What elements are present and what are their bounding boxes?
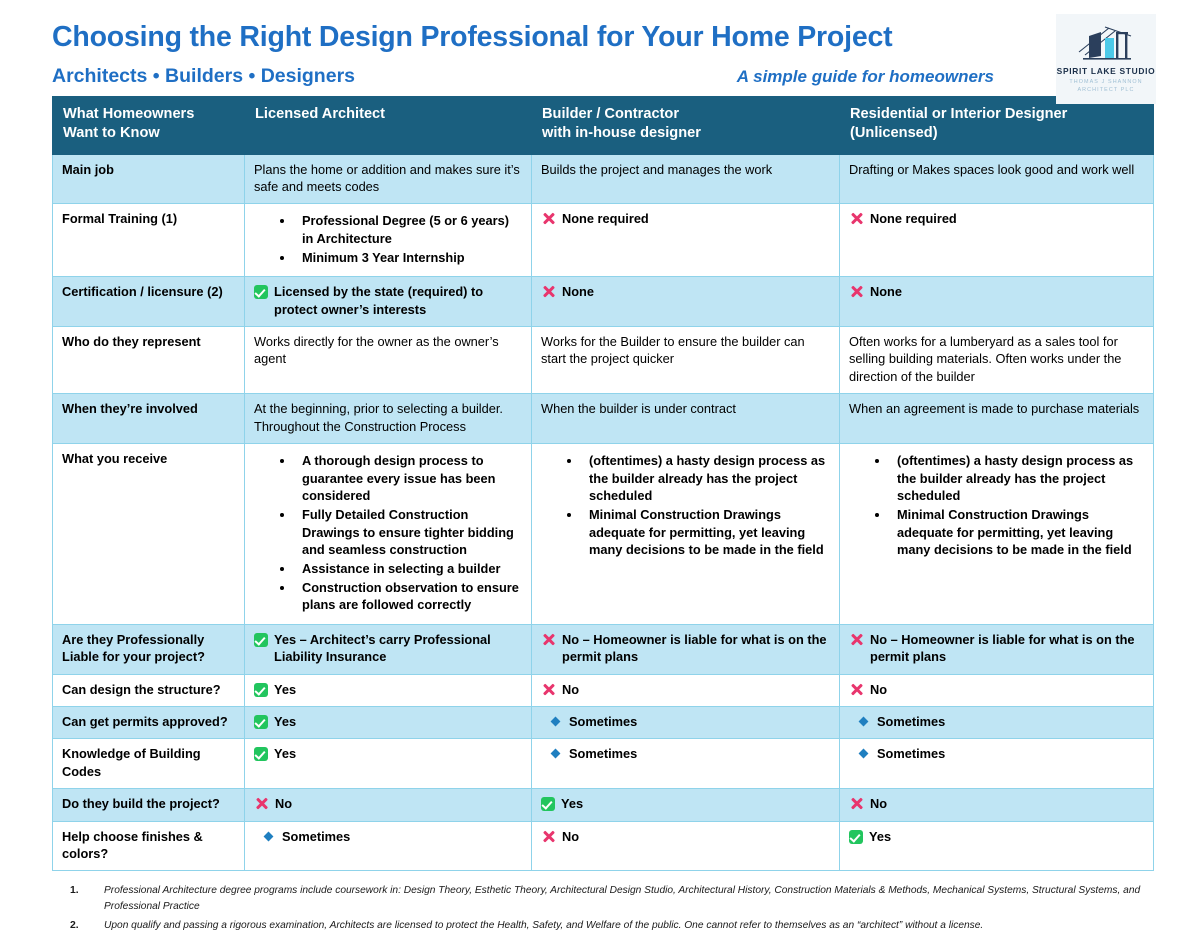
column-header-topic-line2: Want to Know — [63, 124, 236, 143]
status-cell: Sometimes — [849, 745, 1144, 762]
check-icon — [254, 285, 268, 299]
logo-company-name: SPIRIT LAKE STUDIO — [1057, 66, 1156, 76]
cell-architect: No — [245, 789, 532, 821]
table-row: Formal Training (1)Professional Degree (… — [53, 204, 1154, 277]
status-label: No — [275, 795, 292, 812]
status-cell: Yes — [254, 713, 522, 730]
cell-designer: No – Homeowner is liable for what is on … — [840, 624, 1154, 674]
x-icon — [541, 682, 556, 697]
x-icon — [541, 632, 556, 647]
column-header-architect: Licensed Architect — [245, 97, 532, 155]
cell-architect: Professional Degree (5 or 6 years) in Ar… — [245, 204, 532, 277]
diamond-icon — [857, 747, 871, 761]
diamond-icon — [262, 830, 276, 844]
cell-designer: Sometimes — [840, 739, 1154, 789]
cell-builder: Yes — [532, 789, 840, 821]
cell-builder: No — [532, 821, 840, 871]
cell-designer: None required — [840, 204, 1154, 277]
status-cell: None — [541, 283, 830, 300]
bullet-item: Professional Degree (5 or 6 years) in Ar… — [280, 212, 522, 247]
check-icon — [849, 830, 863, 844]
cell-builder: None required — [532, 204, 840, 277]
status-cell: Sometimes — [849, 713, 1144, 730]
cell-designer: None — [840, 277, 1154, 327]
status-label: None — [870, 283, 902, 300]
status-label: Sometimes — [877, 745, 945, 762]
cell-architect: Yes — [245, 739, 532, 789]
cell-architect: Licensed by the state (required) to prot… — [245, 277, 532, 327]
bullet-item: (oftentimes) a hasty design process as t… — [567, 452, 830, 505]
row-label: Are they Professionally Liable for your … — [53, 624, 245, 674]
footnote: 1.Professional Architecture degree progr… — [70, 883, 1152, 915]
status-label: No — [562, 828, 579, 845]
status-label: Sometimes — [877, 713, 945, 730]
status-label: Yes — [274, 745, 296, 762]
table-header-row: What Homeowners Want to Know Licensed Ar… — [53, 97, 1154, 155]
status-cell: None required — [849, 210, 1144, 227]
table-row: Who do they representWorks directly for … — [53, 327, 1154, 394]
cell-architect: Works directly for the owner as the owne… — [245, 327, 532, 394]
x-icon — [849, 682, 864, 697]
check-icon — [541, 797, 555, 811]
cell-builder: Builds the project and manages the work — [532, 154, 840, 204]
row-label: Certification / licensure (2) — [53, 277, 245, 327]
cell-architect: A thorough design process to guarantee e… — [245, 443, 532, 624]
table-row: Main jobPlans the home or addition and m… — [53, 154, 1154, 204]
cell-text: Builds the project and manages the work — [541, 161, 830, 178]
table-row: Can design the structure?YesNoNo — [53, 674, 1154, 706]
status-cell: Sometimes — [254, 828, 522, 845]
x-icon — [541, 211, 556, 226]
bullet-item: Fully Detailed Construction Drawings to … — [280, 506, 522, 559]
cell-builder: No — [532, 674, 840, 706]
status-label: No — [562, 681, 579, 698]
x-icon — [849, 632, 864, 647]
status-label: None required — [870, 210, 957, 227]
column-header-designer-line2: (Unlicensed) — [850, 124, 1145, 143]
column-header-builder: Builder / Contractor with in-house desig… — [532, 97, 840, 155]
table-head: What Homeowners Want to Know Licensed Ar… — [53, 97, 1154, 155]
x-icon — [541, 829, 556, 844]
check-icon — [254, 747, 268, 761]
infographic-page: Choosing the Right Design Professional f… — [0, 0, 1200, 927]
comparison-table-wrapper: What Homeowners Want to Know Licensed Ar… — [52, 96, 1153, 871]
table-row: Do they build the project?NoYesNo — [53, 789, 1154, 821]
status-label: Yes — [274, 681, 296, 698]
status-label: Licensed by the state (required) to prot… — [274, 283, 522, 318]
cell-architect: Yes — [245, 707, 532, 739]
x-icon — [849, 211, 864, 226]
cell-text: Often works for a lumberyard as a sales … — [849, 333, 1144, 385]
column-header-designer-line1: Residential or Interior Designer — [850, 105, 1145, 124]
cell-text: Drafting or Makes spaces look good and w… — [849, 161, 1144, 178]
diamond-icon — [549, 747, 563, 761]
status-cell: No — [849, 795, 1144, 812]
status-label: No — [870, 681, 887, 698]
status-cell: None — [849, 283, 1144, 300]
x-icon — [541, 284, 556, 299]
status-label: No – Homeowner is liable for what is on … — [562, 631, 830, 666]
bullet-item: Minimal Construction Drawings adequate f… — [875, 506, 1144, 559]
status-label: Sometimes — [569, 713, 637, 730]
row-label: Knowledge of Building Codes — [53, 739, 245, 789]
cell-designer: Yes — [840, 821, 1154, 871]
cell-builder: None — [532, 277, 840, 327]
cell-text: Works directly for the owner as the owne… — [254, 333, 522, 368]
cell-architect: Yes — [245, 674, 532, 706]
status-label: Yes – Architect’s carry Professional Lia… — [274, 631, 522, 666]
check-icon — [254, 633, 268, 647]
bullet-list: A thorough design process to guarantee e… — [254, 452, 522, 614]
footnote-number: 1. — [70, 883, 104, 899]
table-row: Certification / licensure (2)Licensed by… — [53, 277, 1154, 327]
status-cell: No — [254, 795, 522, 812]
table-row: What you receiveA thorough design proces… — [53, 443, 1154, 624]
cell-architect: Yes – Architect’s carry Professional Lia… — [245, 624, 532, 674]
cell-builder: (oftentimes) a hasty design process as t… — [532, 443, 840, 624]
table-row: Are they Professionally Liable for your … — [53, 624, 1154, 674]
row-label: Can design the structure? — [53, 674, 245, 706]
status-cell: Yes — [849, 828, 1144, 845]
row-label: Do they build the project? — [53, 789, 245, 821]
cell-text: When an agreement is made to purchase ma… — [849, 400, 1144, 417]
cell-builder: No – Homeowner is liable for what is on … — [532, 624, 840, 674]
cell-designer: Often works for a lumberyard as a sales … — [840, 327, 1154, 394]
cell-architect: Plans the home or addition and makes sur… — [245, 154, 532, 204]
page-subtitle: Architects • Builders • Designers — [52, 65, 355, 88]
cell-designer: (oftentimes) a hasty design process as t… — [840, 443, 1154, 624]
cell-designer: No — [840, 789, 1154, 821]
row-label: What you receive — [53, 443, 245, 624]
bullet-item: A thorough design process to guarantee e… — [280, 452, 522, 505]
cell-text: When the builder is under contract — [541, 400, 830, 417]
footnote-text: Upon qualify and passing a rigorous exam… — [104, 918, 1152, 934]
table-body: Main jobPlans the home or addition and m… — [53, 154, 1154, 871]
page-tagline: A simple guide for homeowners — [737, 67, 994, 87]
bullet-list: (oftentimes) a hasty design process as t… — [849, 452, 1144, 559]
status-label: No – Homeowner is liable for what is on … — [870, 631, 1144, 666]
status-label: None required — [562, 210, 649, 227]
cell-builder: Sometimes — [532, 707, 840, 739]
diamond-icon — [549, 715, 563, 729]
row-label: Main job — [53, 154, 245, 204]
status-label: Yes — [561, 795, 583, 812]
row-label: Can get permits approved? — [53, 707, 245, 739]
status-cell: Yes — [254, 681, 522, 698]
cell-builder: When the builder is under contract — [532, 394, 840, 444]
cell-builder: Works for the Builder to ensure the buil… — [532, 327, 840, 394]
column-header-topic-line1: What Homeowners — [63, 105, 236, 124]
bullet-item: Minimal Construction Drawings adequate f… — [567, 506, 830, 559]
logo-principal-name: THOMAS J SHANNON — [1069, 79, 1142, 85]
status-cell: No — [849, 681, 1144, 698]
cell-architect: At the beginning, prior to selecting a b… — [245, 394, 532, 444]
status-label: None — [562, 283, 594, 300]
column-header-builder-line1: Builder / Contractor — [542, 105, 831, 124]
status-label: Yes — [274, 713, 296, 730]
cell-designer: Drafting or Makes spaces look good and w… — [840, 154, 1154, 204]
footnote-number: 2. — [70, 918, 104, 934]
table-row: When they’re involvedAt the beginning, p… — [53, 394, 1154, 444]
company-logo: SPIRIT LAKE STUDIO THOMAS J SHANNON ARCH… — [1056, 14, 1156, 104]
column-header-architect-line1: Licensed Architect — [255, 105, 523, 124]
cell-designer: No — [840, 674, 1154, 706]
x-icon — [849, 284, 864, 299]
row-label: Help choose finishes & colors? — [53, 821, 245, 871]
status-cell: No – Homeowner is liable for what is on … — [541, 631, 830, 666]
status-label: Yes — [869, 828, 891, 845]
status-label: No — [870, 795, 887, 812]
page-title: Choosing the Right Design Professional f… — [52, 22, 1152, 53]
column-header-topic: What Homeowners Want to Know — [53, 97, 245, 155]
cell-architect: Sometimes — [245, 821, 532, 871]
status-label: Sometimes — [569, 745, 637, 762]
row-label: Who do they represent — [53, 327, 245, 394]
status-cell: None required — [541, 210, 830, 227]
status-cell: Sometimes — [541, 745, 830, 762]
cell-builder: Sometimes — [532, 739, 840, 789]
status-cell: No — [541, 828, 830, 845]
table-row: Can get permits approved?YesSometimesSom… — [53, 707, 1154, 739]
x-icon — [849, 796, 864, 811]
cell-text: Plans the home or addition and makes sur… — [254, 161, 522, 196]
bullet-item: (oftentimes) a hasty design process as t… — [875, 452, 1144, 505]
column-header-designer: Residential or Interior Designer (Unlice… — [840, 97, 1154, 155]
status-cell: Yes — [541, 795, 830, 812]
status-cell: Yes — [254, 745, 522, 762]
row-label: Formal Training (1) — [53, 204, 245, 277]
x-icon — [254, 796, 269, 811]
bullet-item: Assistance in selecting a builder — [280, 560, 522, 578]
check-icon — [254, 683, 268, 697]
page-header: Choosing the Right Design Professional f… — [0, 0, 1200, 96]
cell-designer: When an agreement is made to purchase ma… — [840, 394, 1154, 444]
status-cell: Yes – Architect’s carry Professional Lia… — [254, 631, 522, 666]
status-cell: Licensed by the state (required) to prot… — [254, 283, 522, 318]
row-label: When they’re involved — [53, 394, 245, 444]
cell-designer: Sometimes — [840, 707, 1154, 739]
table-row: Help choose finishes & colors?SometimesN… — [53, 821, 1154, 871]
comparison-table: What Homeowners Want to Know Licensed Ar… — [52, 96, 1154, 871]
studio-building-icon — [1075, 22, 1137, 64]
diamond-icon — [857, 715, 871, 729]
bullet-item: Minimum 3 Year Internship — [280, 249, 522, 267]
check-icon — [254, 715, 268, 729]
cell-text: At the beginning, prior to selecting a b… — [254, 400, 522, 435]
footnote-text: Professional Architecture degree program… — [104, 883, 1152, 915]
bullet-list: (oftentimes) a hasty design process as t… — [541, 452, 830, 559]
header-subrow: Architects • Builders • Designers A simp… — [52, 65, 1152, 88]
footnote: 2.Upon qualify and passing a rigorous ex… — [70, 918, 1152, 934]
bullet-item: Construction observation to ensure plans… — [280, 579, 522, 614]
cell-text: Works for the Builder to ensure the buil… — [541, 333, 830, 368]
status-cell: Sometimes — [541, 713, 830, 730]
footnotes: 1.Professional Architecture degree progr… — [70, 883, 1152, 934]
status-label: Sometimes — [282, 828, 350, 845]
status-cell: No – Homeowner is liable for what is on … — [849, 631, 1144, 666]
logo-firm-type: ARCHITECT PLC — [1077, 87, 1134, 93]
bullet-list: Professional Degree (5 or 6 years) in Ar… — [254, 212, 522, 266]
column-header-builder-line2: with in-house designer — [542, 124, 831, 143]
table-row: Knowledge of Building CodesYesSometimesS… — [53, 739, 1154, 789]
status-cell: No — [541, 681, 830, 698]
